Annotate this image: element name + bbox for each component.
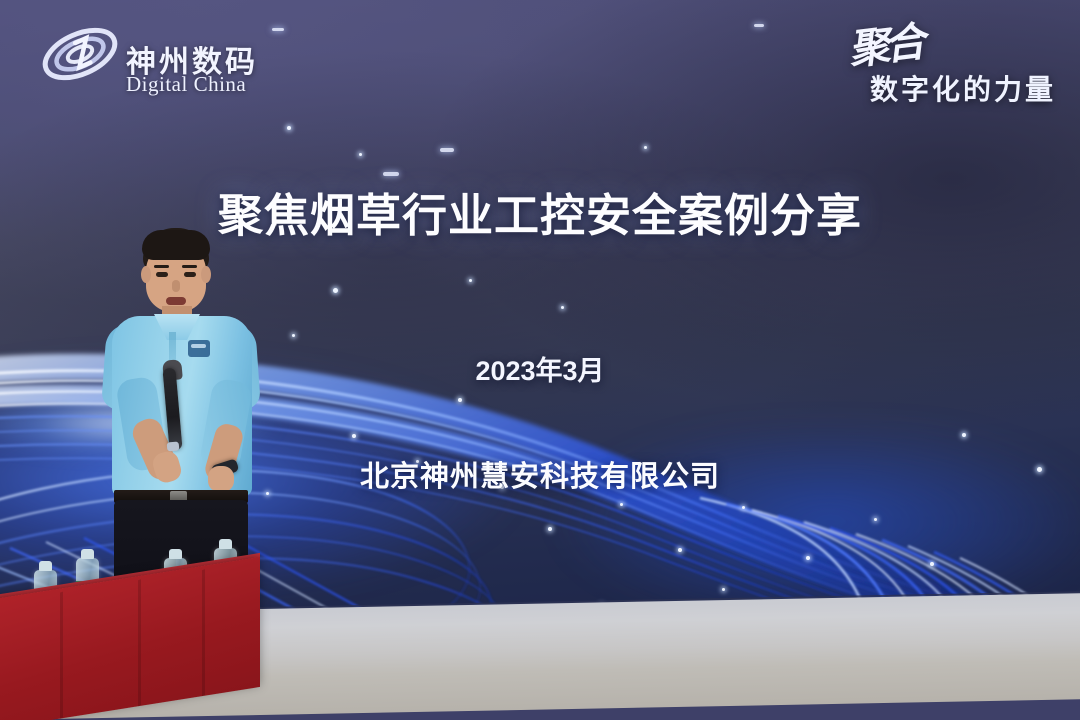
conference-photo-stage: 神州数码 Digital China 聚合 数字化的力量 聚焦烟草行业工控安全案… [0,0,1080,720]
speaker-hair-top [142,230,210,260]
brand-name-en: Digital China [126,72,246,97]
bottle-cap [39,561,52,571]
speaker-ear-right [201,266,211,283]
bottle-cap [169,549,182,559]
event-logo: 聚合 数字化的力量 [788,14,1058,106]
digital-china-swirl-logo [40,21,120,87]
event-subtitle: 数字化的力量 [870,68,1056,108]
bottle-cap [219,539,232,549]
speaker-ear-left [141,266,151,283]
speaker-hand-right [208,466,234,492]
speaker-brow-right [182,265,197,268]
brand-logo: 神州数码 Digital China [40,18,310,92]
speaker-nose [172,280,180,292]
microphone-base [167,441,180,451]
event-calligraphy: 聚合 [845,8,924,76]
speaker-eye-left [156,272,168,277]
bottle-cap [81,549,94,559]
speaker-mouth [166,297,186,305]
speaker-brow-left [154,265,169,268]
speaker-eye-right [184,272,196,277]
polo-chest-logo-icon [188,340,210,357]
